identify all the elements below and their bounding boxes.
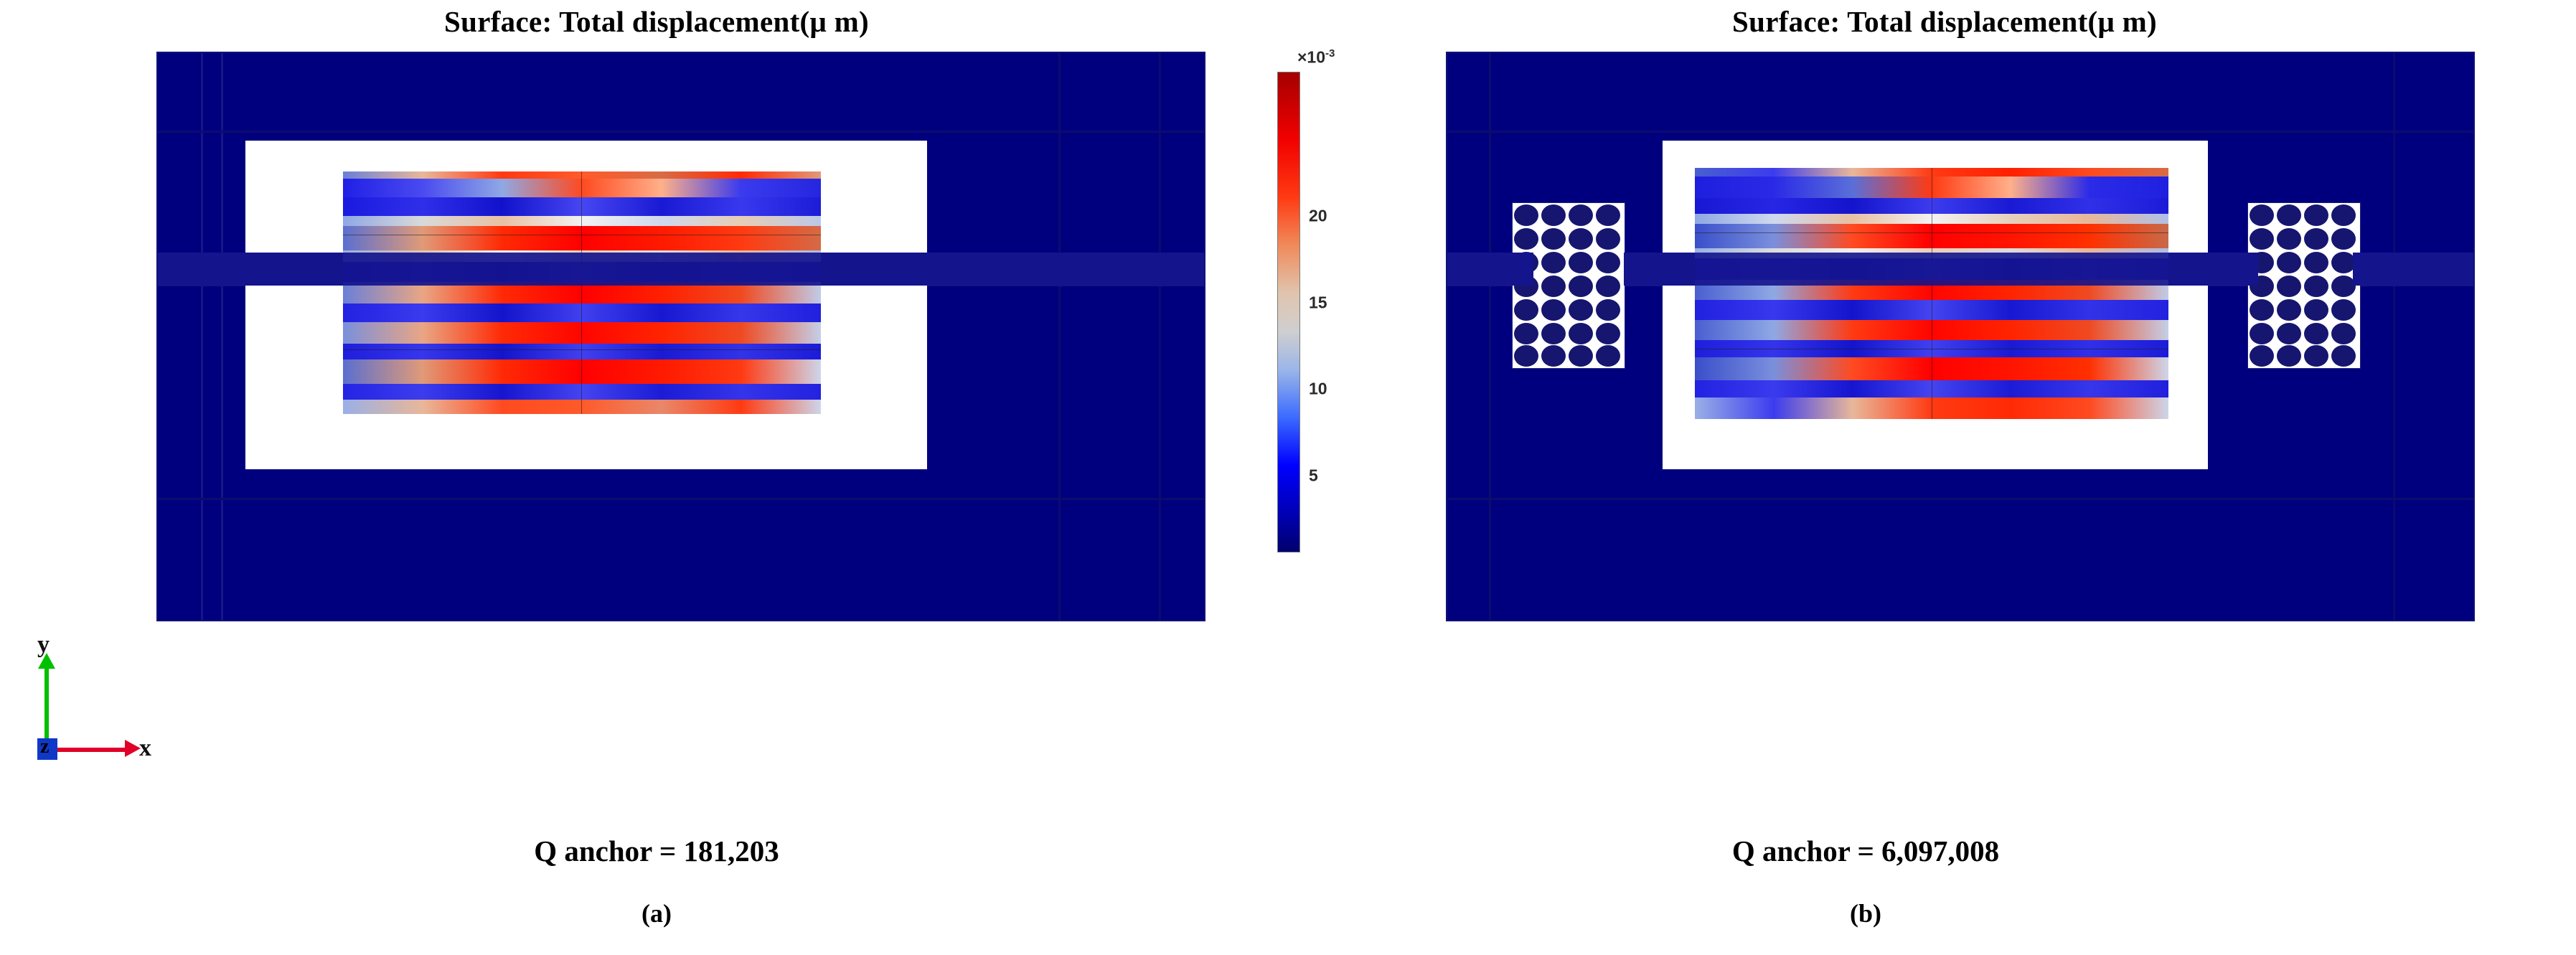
mode-fringe xyxy=(343,384,821,400)
y-axis-label: y xyxy=(37,631,50,659)
mesh-line-h xyxy=(158,498,1204,500)
mesh-line-h xyxy=(1447,498,2473,500)
x-axis-arrow xyxy=(51,748,131,752)
mode-fringe xyxy=(343,171,821,179)
anchor-tether-left xyxy=(158,253,344,286)
x-axis-arrowhead xyxy=(125,740,141,757)
phononic-dot-array xyxy=(1513,203,1625,368)
mesh-line-v xyxy=(1489,53,1491,620)
panel-b-q-caption: Q anchor = 6,097,008 xyxy=(1234,834,2497,868)
mode-fringe xyxy=(343,400,821,414)
plate-edge xyxy=(581,171,582,414)
panel-a: Surface: Total displacement(μ m) xyxy=(0,0,1313,955)
anchor-tether-left xyxy=(1447,253,1533,286)
mesh-line-v xyxy=(201,53,203,620)
y-axis-arrow xyxy=(44,663,49,746)
mesh-line-v xyxy=(1058,53,1061,620)
panel-b-title: Surface: Total displacement(μ m) xyxy=(1313,4,2576,39)
panel-a-colorbar: ×10-3 20 15 10 5 xyxy=(1277,72,1300,552)
panel-a-sublabel: (a) xyxy=(0,898,1313,928)
axis-triad: y x z xyxy=(16,643,145,779)
plate-edge xyxy=(1932,168,1932,419)
phononic-crystal-right xyxy=(2247,202,2361,369)
panel-a-title: Surface: Total displacement(μ m) xyxy=(0,4,1313,39)
mode-fringe xyxy=(343,197,821,216)
anchor-tether-center xyxy=(343,253,821,286)
mesh-line-h xyxy=(1447,131,2473,133)
mode-fringe xyxy=(343,322,821,344)
x-axis-label: x xyxy=(139,735,151,762)
mesh-line-v xyxy=(2393,53,2395,620)
phononic-dot-array xyxy=(2248,203,2360,368)
phononic-crystal-left xyxy=(1512,202,1625,369)
mode-fringe xyxy=(343,179,821,197)
anchor-tether-right-inner xyxy=(2165,253,2258,286)
anchor-tether-center xyxy=(1695,253,2168,286)
mesh-line-h xyxy=(158,131,1204,133)
mode-fringe xyxy=(343,226,821,250)
panel-b-plot-canvas xyxy=(1446,52,2475,621)
figure-root: Surface: Total displacement(μ m) xyxy=(0,0,2576,955)
panel-b: Surface: Total displacement(μ m) xyxy=(1313,0,2576,955)
anchor-tether-right xyxy=(818,253,1205,286)
mode-fringe xyxy=(343,344,821,359)
mesh-line-v xyxy=(221,53,223,620)
panel-a-q-caption: Q anchor = 181,203 xyxy=(0,834,1313,868)
panel-a-plot-canvas xyxy=(156,52,1205,621)
plate-edge xyxy=(343,349,821,350)
resonator-plate xyxy=(343,171,821,414)
z-axis-label: z xyxy=(40,735,49,758)
plate-edge xyxy=(343,235,821,235)
colorbar-gradient xyxy=(1277,72,1300,552)
mode-fringe xyxy=(343,304,821,322)
anchor-tether-right xyxy=(2353,253,2475,286)
mode-fringe xyxy=(343,359,821,384)
mesh-line-v xyxy=(1159,53,1161,620)
resonator-plate xyxy=(1695,168,2168,419)
panel-b-sublabel: (b) xyxy=(1234,898,2497,928)
mode-fringe xyxy=(343,216,821,226)
